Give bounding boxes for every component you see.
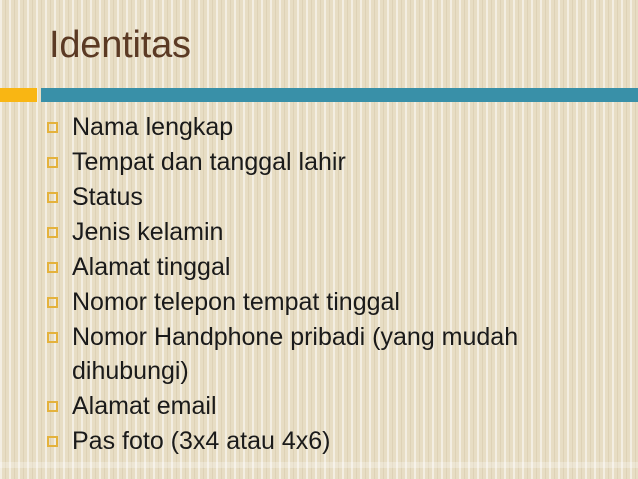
bullet-list: Nama lengkapTempat dan tanggal lahirStat…: [47, 110, 616, 459]
list-item-label: Status: [72, 180, 616, 214]
divider-accent-block: [0, 88, 37, 102]
list-item-label: Nama lengkap: [72, 110, 616, 144]
hollow-square-bullet-icon: [47, 401, 58, 412]
hollow-square-bullet-icon: [47, 227, 58, 238]
slide-canvas: Identitas Nama lengkapTempat dan tanggal…: [0, 0, 638, 479]
bottom-band: [0, 462, 638, 468]
list-item: Alamat email: [47, 389, 616, 423]
list-item-label: Pas foto (3x4 atau 4x6): [72, 424, 616, 458]
title-divider: [0, 88, 638, 102]
list-item: Pas foto (3x4 atau 4x6): [47, 424, 616, 458]
list-item-label: Alamat email: [72, 389, 616, 423]
hollow-square-bullet-icon: [47, 192, 58, 203]
list-item-label: Nomor telepon tempat tinggal: [72, 285, 616, 319]
list-item: Alamat tinggal: [47, 250, 616, 284]
hollow-square-bullet-icon: [47, 157, 58, 168]
hollow-square-bullet-icon: [47, 332, 58, 343]
hollow-square-bullet-icon: [47, 122, 58, 133]
list-item-label: Tempat dan tanggal lahir: [72, 145, 616, 179]
list-item: Nomor Handphone pribadi (yang mudah dihu…: [47, 320, 616, 388]
hollow-square-bullet-icon: [47, 297, 58, 308]
list-item: Tempat dan tanggal lahir: [47, 145, 616, 179]
slide-title: Identitas: [49, 22, 191, 68]
list-item-label: Alamat tinggal: [72, 250, 616, 284]
list-item: Jenis kelamin: [47, 215, 616, 249]
hollow-square-bullet-icon: [47, 262, 58, 273]
list-item: Nama lengkap: [47, 110, 616, 144]
list-item-label: Jenis kelamin: [72, 215, 616, 249]
list-item: Nomor telepon tempat tinggal: [47, 285, 616, 319]
divider-bar: [41, 88, 638, 102]
list-item-label: Nomor Handphone pribadi (yang mudah dihu…: [72, 320, 616, 388]
list-item: Status: [47, 180, 616, 214]
hollow-square-bullet-icon: [47, 436, 58, 447]
